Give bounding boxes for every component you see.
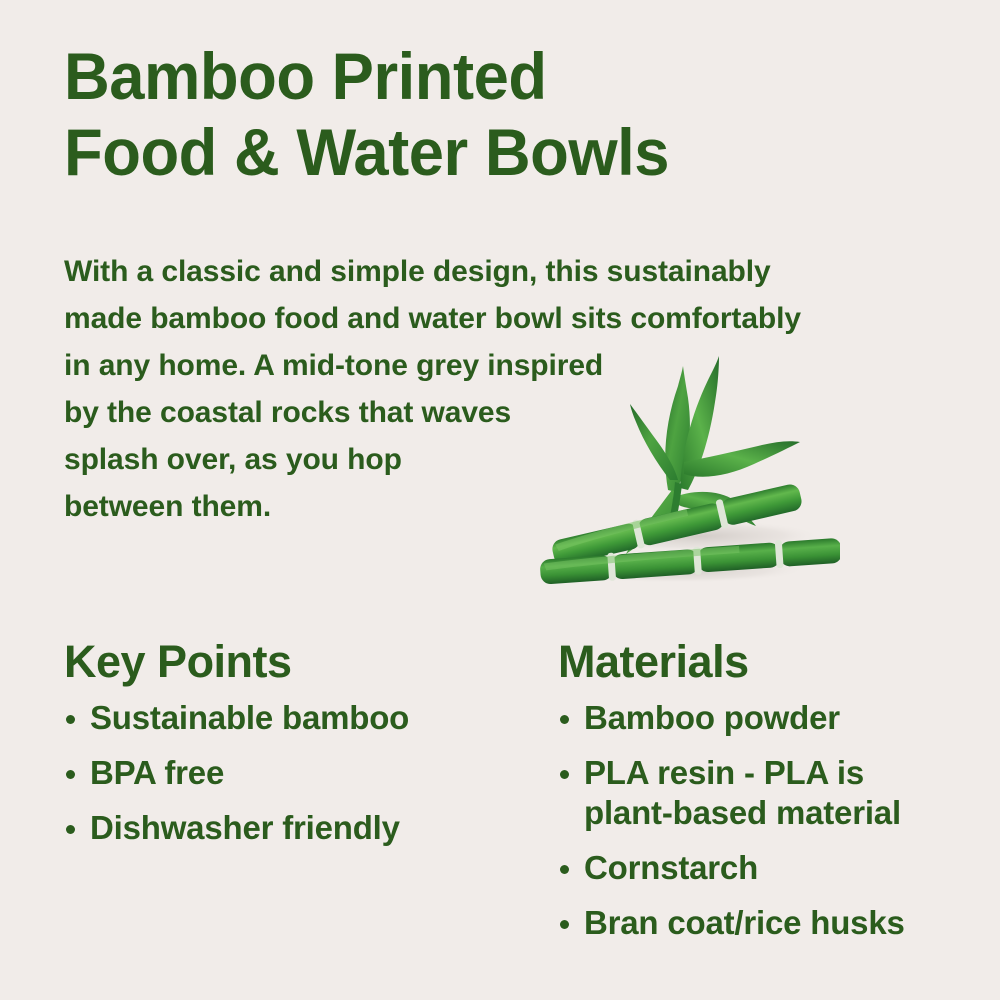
key-points-heading: Key Points: [64, 636, 534, 688]
list-item: Cornstarch: [558, 848, 978, 888]
list-item: Dishwasher friendly: [64, 808, 534, 848]
key-points-section: Key Points Sustainable bamboo BPA free D…: [64, 636, 534, 863]
list-item: PLA resin - PLA is plant-based material: [558, 753, 978, 833]
list-item: Bamboo powder: [558, 698, 978, 738]
materials-section: Materials Bamboo powder PLA resin - PLA …: [558, 636, 978, 958]
page-title-line-1: Bamboo Printed: [64, 38, 909, 114]
materials-heading: Materials: [558, 636, 978, 688]
list-item: Bran coat/rice husks: [558, 903, 978, 943]
product-info-card: Bamboo Printed Food & Water Bowls With a…: [0, 0, 1000, 1000]
bamboo-illustration: [520, 330, 840, 600]
page-title: Bamboo Printed Food & Water Bowls: [64, 38, 944, 190]
list-item: Sustainable bamboo: [64, 698, 534, 738]
materials-list: Bamboo powder PLA resin - PLA is plant-b…: [558, 698, 978, 943]
list-item-line: plant-based material: [584, 793, 978, 833]
list-item: BPA free: [64, 753, 534, 793]
page-title-line-2: Food & Water Bowls: [64, 114, 909, 190]
list-item-line: PLA resin - PLA is: [584, 753, 978, 793]
description-line: With a classic and simple design, this s…: [64, 248, 894, 295]
key-points-list: Sustainable bamboo BPA free Dishwasher f…: [64, 698, 534, 848]
